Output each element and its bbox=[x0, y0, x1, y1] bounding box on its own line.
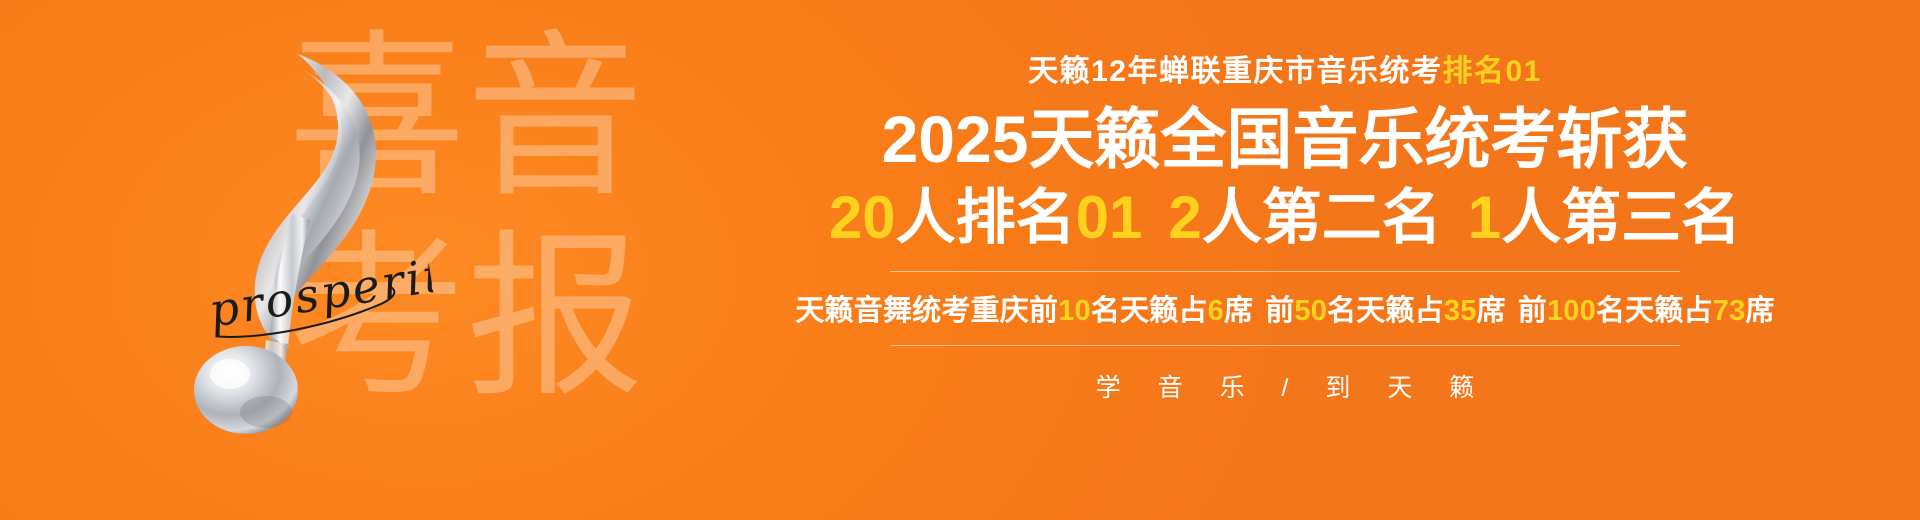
banner-content: 天籁12年蝉联重庆市音乐统考排名01 2025天籁全国音乐统考斩获 20人排名0… bbox=[720, 0, 1850, 520]
result-3-label: 人第三名 bbox=[1501, 184, 1741, 251]
stats-rank2-prefix: 前 bbox=[1265, 295, 1294, 327]
stats-rank1-count: 6 bbox=[1208, 295, 1224, 327]
tagline: 学 音 乐 / 到 天 籁 bbox=[1081, 368, 1490, 404]
result-1-rank: 01 bbox=[1076, 184, 1143, 251]
stats-rank3-middle: 名天籁占 bbox=[1596, 295, 1713, 327]
ghost-char-4: 报 bbox=[466, 218, 644, 418]
stats-rank2-middle: 名天籁占 bbox=[1327, 295, 1444, 327]
stats-rank1-middle: 名天籁占 bbox=[1091, 295, 1208, 327]
stats-rank1-suffix: 席 bbox=[1224, 295, 1253, 327]
stats-rank3-suffix: 席 bbox=[1745, 295, 1774, 327]
result-3-number: 1 bbox=[1468, 184, 1501, 251]
stats-rank2-number: 50 bbox=[1294, 295, 1327, 327]
ghost-char-2: 音 bbox=[466, 18, 644, 218]
result-2-label: 人第二名 bbox=[1202, 184, 1442, 251]
stats-rank3-number: 100 bbox=[1547, 295, 1596, 327]
stats-prefix: 天籁音舞统考重庆前 bbox=[795, 295, 1058, 327]
result-1-number: 20 bbox=[829, 184, 896, 251]
stats-rank1-number: 10 bbox=[1058, 295, 1091, 327]
chrome-music-note-icon bbox=[170, 18, 470, 438]
banner-artwork: 喜 音 考 报 bbox=[170, 0, 730, 520]
divider-top bbox=[890, 271, 1680, 272]
main-title: 2025天籁全国音乐统考斩获 bbox=[882, 104, 1689, 175]
stats-rank3-prefix: 前 bbox=[1518, 295, 1547, 327]
eyebrow-white-text: 天籁12年蝉联重庆市音乐统考 bbox=[1028, 55, 1442, 88]
eyebrow-highlight-text: 排名01 bbox=[1443, 55, 1542, 88]
stats-rank2-count: 35 bbox=[1444, 295, 1477, 327]
divider-bottom bbox=[890, 345, 1680, 346]
eyebrow-line: 天籁12年蝉联重庆市音乐统考排名01 bbox=[1028, 46, 1542, 90]
result-1-label: 人排名 bbox=[896, 184, 1076, 251]
results-line: 20人排名012人第二名1人第三名 bbox=[829, 185, 1741, 251]
stats-rank2-suffix: 席 bbox=[1477, 295, 1506, 327]
result-2-number: 2 bbox=[1168, 184, 1201, 251]
promo-banner: 喜 音 考 报 bbox=[0, 0, 1920, 520]
stats-rank3-count: 73 bbox=[1713, 295, 1746, 327]
stats-line: 天籁音舞统考重庆前10名天籁占6席前50名天籁占35席前100名天籁占73席 bbox=[795, 287, 1774, 329]
